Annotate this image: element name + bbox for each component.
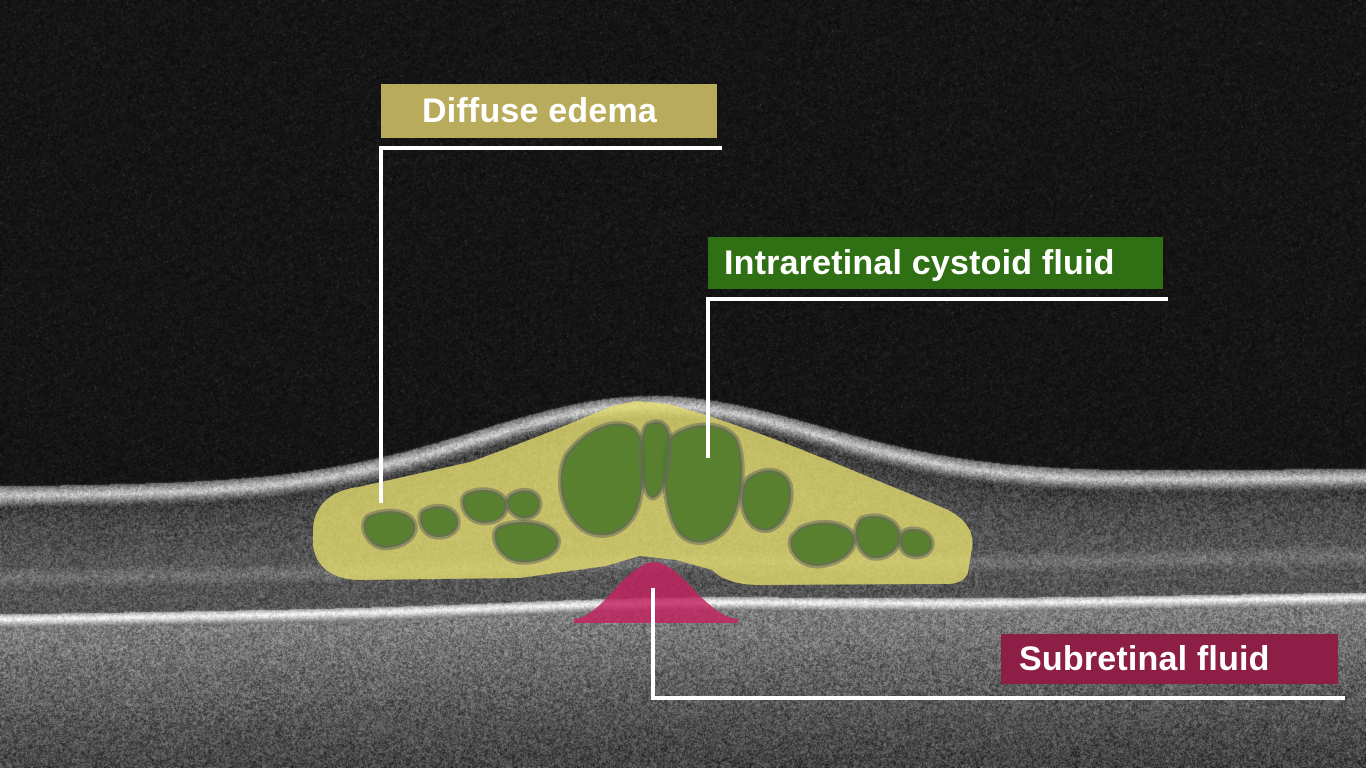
annotation-label-diffuse-edema[interactable]: Diffuse edema [381,84,717,138]
cyst-region [790,522,854,566]
cyst-region [641,422,670,498]
annotation-label-subretinal-fluid[interactable]: Subretinal fluid [1001,634,1338,684]
annotation-label-intraretinal-cystoid-fluid[interactable]: Intraretinal cystoid fluid [708,237,1163,289]
cyst-region [856,516,901,558]
annotation-label-text: Intraretinal cystoid fluid [724,246,1115,280]
cyst-region [494,522,558,562]
cyst-region [507,490,540,518]
cyst-region [900,529,932,557]
cyst-region [462,490,506,523]
cyst-region [420,506,458,537]
cyst-region [742,470,791,530]
leader-line-intraretinal [708,299,1168,458]
oct-scan-viewer: Diffuse edema Intraretinal cystoid fluid… [0,0,1366,768]
annotation-label-text: Diffuse edema [422,94,657,128]
cyst-region [664,425,742,543]
annotation-label-text: Subretinal fluid [1019,642,1270,676]
leader-lines [381,148,1345,698]
cyst-region [364,511,416,548]
